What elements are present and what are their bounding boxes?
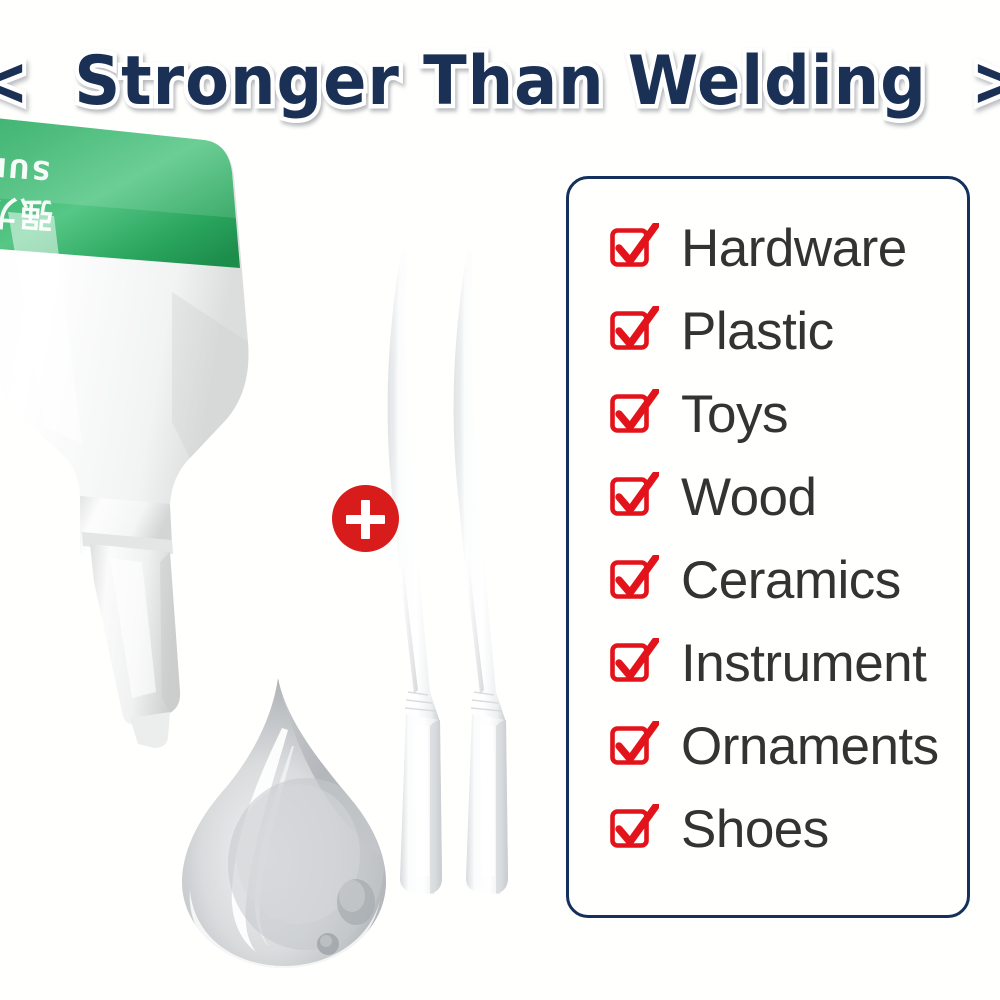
applications-panel: Hardware Plastic Toys <box>566 176 970 918</box>
bottle-body: 强力胶 ® SUPER G <box>0 102 249 562</box>
right-chevron-icon: > <box>972 48 1000 117</box>
list-item-label: Toys <box>681 388 788 441</box>
product-banner: < Stronger Than Welding > <box>0 0 1000 1000</box>
list-item[interactable]: Plastic <box>609 290 949 373</box>
plus-icon-vertical <box>361 500 370 539</box>
list-item-label: Plastic <box>681 305 834 358</box>
checkbox-checked-icon[interactable] <box>609 804 659 854</box>
list-item-label: Ornaments <box>681 720 939 773</box>
applicator-sticks <box>370 248 530 924</box>
list-item[interactable]: Toys <box>609 373 949 456</box>
glue-bottle: 强力胶 ® SUPER G <box>0 92 334 752</box>
checkbox-checked-icon[interactable] <box>609 223 659 273</box>
headline-banner: < Stronger Than Welding > <box>0 34 1000 130</box>
list-item[interactable]: Ornaments <box>609 705 949 788</box>
list-item[interactable]: Instrument <box>609 622 949 705</box>
list-item-label: Hardware <box>681 222 907 275</box>
list-item[interactable]: Shoes <box>609 788 949 871</box>
list-item-label: Instrument <box>681 637 926 690</box>
checkbox-checked-icon[interactable] <box>609 472 659 522</box>
list-item-label: Shoes <box>681 803 829 856</box>
list-item-label: Ceramics <box>681 554 901 607</box>
applications-list: Hardware Plastic Toys <box>609 207 949 871</box>
checkbox-checked-icon[interactable] <box>609 555 659 605</box>
plus-badge <box>332 485 399 552</box>
checkbox-checked-icon[interactable] <box>609 721 659 771</box>
applicator-stick <box>454 252 508 894</box>
list-item[interactable]: Ceramics <box>609 539 949 622</box>
left-chevron-icon: < <box>0 48 29 117</box>
list-item[interactable]: Wood <box>609 456 949 539</box>
list-item[interactable]: Hardware <box>609 207 949 290</box>
list-item-label: Wood <box>681 471 817 524</box>
headline-text: Stronger Than Welding <box>74 48 927 116</box>
applicator-stick <box>388 252 442 894</box>
bottle-nozzle <box>90 544 180 748</box>
checkbox-checked-icon[interactable] <box>609 306 659 356</box>
checkbox-checked-icon[interactable] <box>609 389 659 439</box>
checkbox-checked-icon[interactable] <box>609 638 659 688</box>
